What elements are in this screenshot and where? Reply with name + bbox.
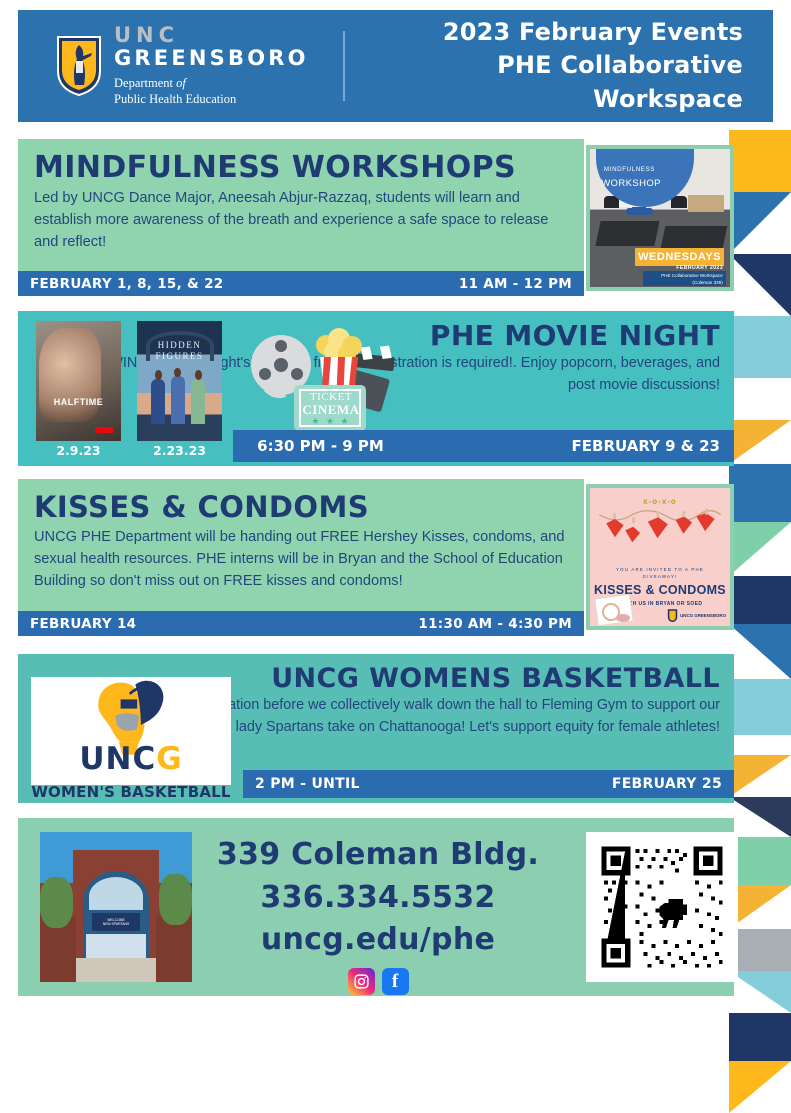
uncg-minerva-shield-icon xyxy=(56,35,102,97)
footer-contact-card: WELCOME NEW SPARTANS 339 Coleman Bldg. 3… xyxy=(18,818,734,996)
uncg-womens-basketball-logo: UNCG WOMEN'S BASKETBALL xyxy=(31,677,231,785)
event-date: FEBRUARY 9 & 23 xyxy=(408,430,734,462)
event-date: FEBRUARY 25 xyxy=(612,776,722,792)
footer-website[interactable]: uncg.edu/phe xyxy=(208,919,548,962)
edge-tile-blue-triangle xyxy=(729,192,791,254)
logo-greensboro-text: GREENSBORO xyxy=(114,48,309,69)
dept-line1-a: Department xyxy=(114,76,176,90)
poster-headline: KISSES & CONDOMS xyxy=(590,583,730,597)
event-meta-bar: 2 PM - UNTIL FEBRUARY 25 xyxy=(243,770,734,798)
halftime-poster-title: HALFTIME xyxy=(43,397,114,407)
edge-tile-mint xyxy=(729,837,791,885)
event-date: FEBRUARY 1, 8, 15, & 22 xyxy=(30,276,223,292)
dept-line1-b: of xyxy=(176,76,186,90)
edge-tile-navy-triangle xyxy=(729,254,791,316)
poster-uncg-logo: UNCG GREENSBORO xyxy=(667,608,726,623)
poster-banner-sub: FEBRUARY 2023 xyxy=(676,265,723,271)
halftime-caption: 2.9.23 xyxy=(36,443,121,458)
uncg-logo: UNC GREENSBORO Department of Public Heal… xyxy=(18,25,345,107)
event-time: 6:30 PM - 9 PM xyxy=(233,430,408,462)
event-card-mindfulness-workshops: MINDFULNESS WORKSHOPS Led by UNCG Dance … xyxy=(18,139,584,296)
edge-tile-sky xyxy=(729,316,791,378)
edge-tile-mint-triangle xyxy=(729,522,791,576)
event-title: KISSES & CONDOMS xyxy=(18,479,584,526)
edge-tile-gold-triangle xyxy=(729,420,791,464)
edge-tile-navy-triangle-2 xyxy=(729,797,791,837)
poster-invite-line2: GIVEAWAY! xyxy=(590,573,730,580)
hidden-figures-poster: HIDDEN FIGURES xyxy=(137,321,222,441)
event-title: MINDFULNESS WORKSHOPS xyxy=(18,139,584,187)
facebook-icon[interactable]: f xyxy=(382,968,409,995)
poster-footer-line1: PHE Collaborative Workspace xyxy=(643,273,723,280)
poster-banner-title: WEDNESDAYS xyxy=(635,248,725,266)
poster-logo-text: UNCG GREENSBORO xyxy=(680,613,726,618)
hidden-figures-caption: 2.23.23 xyxy=(137,443,222,458)
event-card-kisses-and-condoms: KISSES & CONDOMS UNCG PHE Department wil… xyxy=(18,479,584,636)
page-title-line1: 2023 February Events xyxy=(345,16,743,49)
poster-overlay-line1: MINDFULNESS xyxy=(604,166,655,173)
mindfulness-workshop-poster: MINDFULNESS WORKSHOP WEDNESDAYS FEBRUARY… xyxy=(586,145,734,291)
instagram-icon[interactable] xyxy=(348,968,375,995)
edge-tile-navy-2 xyxy=(729,1013,791,1061)
footer-phone[interactable]: 336.334.5532 xyxy=(208,877,548,920)
event-card-uncg-womens-basketball: UNCG WOMENS BASKETBALL Join us for a pre… xyxy=(18,654,734,803)
event-time: 11:30 AM - 4:30 PM xyxy=(418,616,572,632)
poster-overlay-line2: WORKSHOP xyxy=(601,178,661,189)
edge-tile-sky-2 xyxy=(729,679,791,735)
basketball-logo-subtitle: WOMEN'S BASKETBALL xyxy=(31,783,231,801)
edge-tile-navy xyxy=(729,576,791,624)
photo-sign-line2: NEW SPARTANS xyxy=(103,922,130,926)
poster-xoxo: x-o-x-o xyxy=(590,497,730,506)
edge-tile-blue-triangle-2 xyxy=(729,624,791,679)
facebook-glyph: f xyxy=(392,972,398,991)
page-title: 2023 February Events PHE Collaborative W… xyxy=(345,16,773,115)
coleman-building-photo: WELCOME NEW SPARTANS xyxy=(40,832,192,982)
svg-text:UNCG: UNCG xyxy=(79,741,182,777)
edge-tile-gold xyxy=(729,130,791,192)
edge-tile-sky-triangle xyxy=(729,971,791,1013)
flyer-page: UNC GREENSBORO Department of Public Heal… xyxy=(0,0,791,1024)
edge-tile-gray xyxy=(729,929,791,971)
logo-department-text: Department of Public Health Education xyxy=(114,76,309,107)
kisses-and-condoms-poster: x-o-x-o YOU ARE INVITED TO A PH xyxy=(586,484,734,630)
event-meta-bar: FEBRUARY 1, 8, 15, & 22 11 AM - 12 PM xyxy=(18,271,584,296)
flyer-header: UNC GREENSBORO Department of Public Heal… xyxy=(18,10,773,122)
event-card-phe-movie-night: PHE MOVIE NIGHT NOW SHOWING... Movie Nig… xyxy=(18,311,734,466)
event-meta-bar: FEBRUARY 14 11:30 AM - 4:30 PM xyxy=(18,611,584,636)
cinema-ticket-icon: TICKET CINEMA ★ ★ ★ xyxy=(246,323,396,438)
hidden-figures-title-line1: HIDDEN xyxy=(137,340,222,350)
event-description: Led by UNCG Dance Major, Aneesah Abjur-R… xyxy=(18,187,584,254)
footer-address: 339 Coleman Bldg. xyxy=(208,834,548,877)
halftime-poster: HALFTIME xyxy=(36,321,121,441)
edge-tile-gold-triangle-2 xyxy=(729,755,791,797)
event-time: 2 PM - UNTIL xyxy=(255,776,360,792)
event-date: FEBRUARY 14 xyxy=(30,616,136,632)
page-title-line2: PHE Collaborative xyxy=(345,49,743,82)
page-title-line3: Workspace xyxy=(345,83,743,116)
edge-tile-white-gap-2 xyxy=(729,735,791,755)
edge-tile-gold-triangle-3 xyxy=(729,885,791,929)
event-description: UNCG PHE Department will be handing out … xyxy=(18,526,584,593)
poster-invite-line1: YOU ARE INVITED TO A PHE xyxy=(590,566,730,573)
cinema-stars: ★ ★ ★ xyxy=(298,416,364,427)
social-links: f xyxy=(208,968,548,995)
hidden-figures-title-line2: FIGURES xyxy=(137,351,222,361)
decorative-edge-pattern xyxy=(729,130,791,1024)
logo-unc-text: UNC xyxy=(114,25,309,46)
edge-tile-gold-triangle-4 xyxy=(729,1061,791,1113)
poster-footer-line2: (Coleman 339) xyxy=(643,280,723,287)
qr-code[interactable] xyxy=(586,832,738,982)
footer-contact-info: 339 Coleman Bldg. 336.334.5532 uncg.edu/… xyxy=(208,834,548,995)
dept-line2: Public Health Education xyxy=(114,92,236,106)
edge-tile-blue xyxy=(729,464,791,522)
uncg-wordmark: UNC GREENSBORO Department of Public Heal… xyxy=(114,25,309,107)
event-time: 11 AM - 12 PM xyxy=(459,276,572,292)
edge-tile-white-gap xyxy=(729,378,791,420)
